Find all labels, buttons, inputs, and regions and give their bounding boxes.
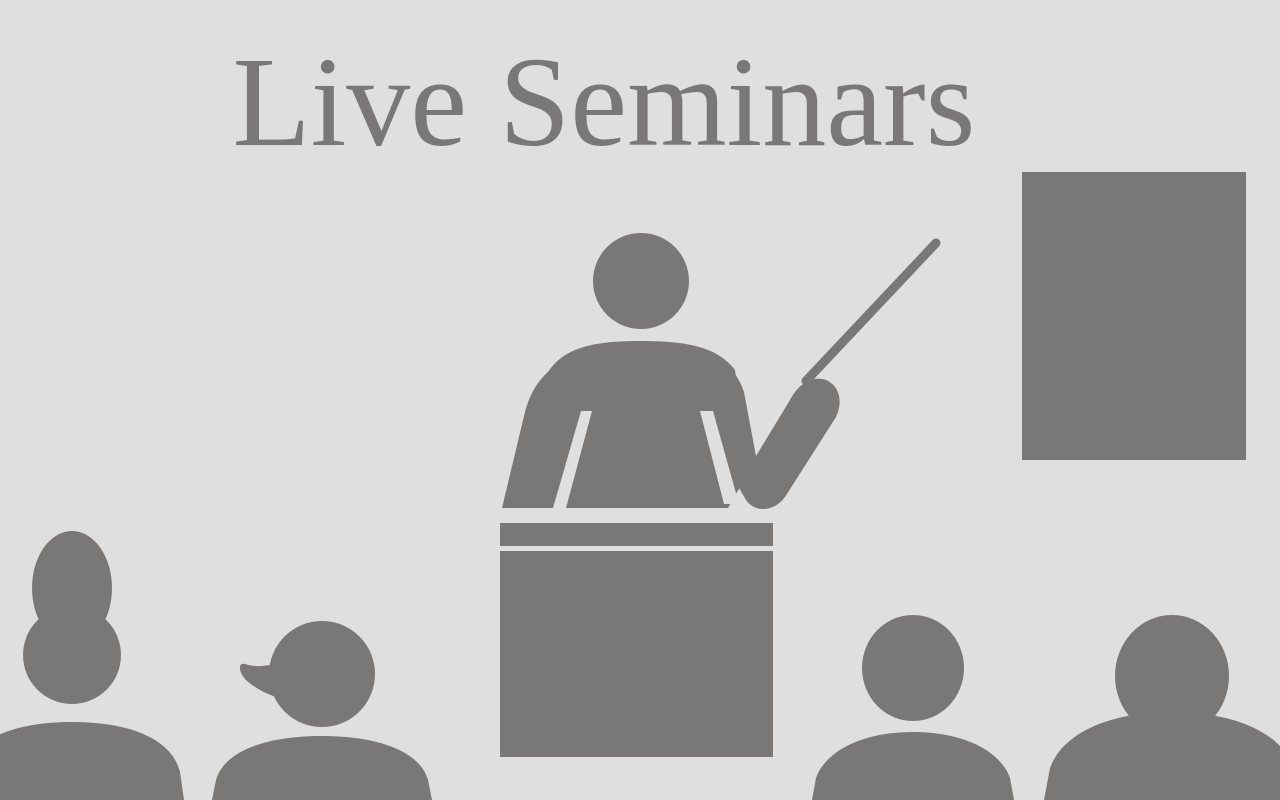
podium-body [500, 551, 773, 757]
podium-icon [500, 523, 773, 757]
audience-3-head [862, 615, 964, 721]
audience-1-head [23, 606, 121, 704]
presenter-head [593, 233, 689, 329]
seminar-banner: Live Seminars [0, 0, 1280, 800]
seminar-scene [0, 0, 1280, 800]
board-icon [1022, 172, 1246, 460]
podium-top [500, 523, 773, 546]
audience-2-head [269, 621, 375, 727]
